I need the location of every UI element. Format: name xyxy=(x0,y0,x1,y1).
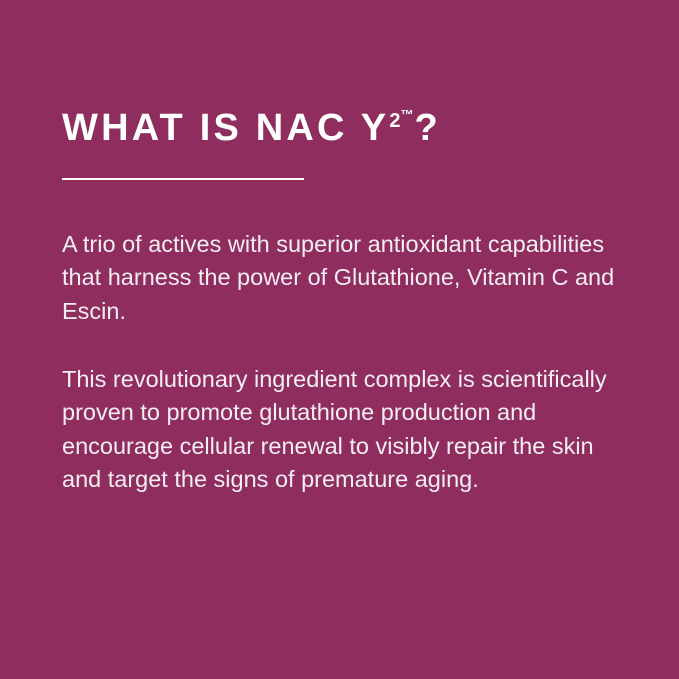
paragraph-1: A trio of actives with superior antioxid… xyxy=(62,228,625,328)
page-title-superscript: 2 xyxy=(389,110,400,132)
title-divider xyxy=(62,178,304,180)
page-title: WHAT IS NAC Y2™? xyxy=(62,108,625,150)
content-container: WHAT IS NAC Y2™? A trio of actives with … xyxy=(62,108,625,496)
page-title-text: WHAT IS NAC Y xyxy=(62,108,389,150)
trademark-symbol: ™ xyxy=(400,108,414,122)
product-info-card: WHAT IS NAC Y2™? A trio of actives with … xyxy=(0,0,679,679)
paragraph-2: This revolutionary ingredient complex is… xyxy=(62,363,625,496)
page-title-question-mark: ? xyxy=(414,108,440,150)
